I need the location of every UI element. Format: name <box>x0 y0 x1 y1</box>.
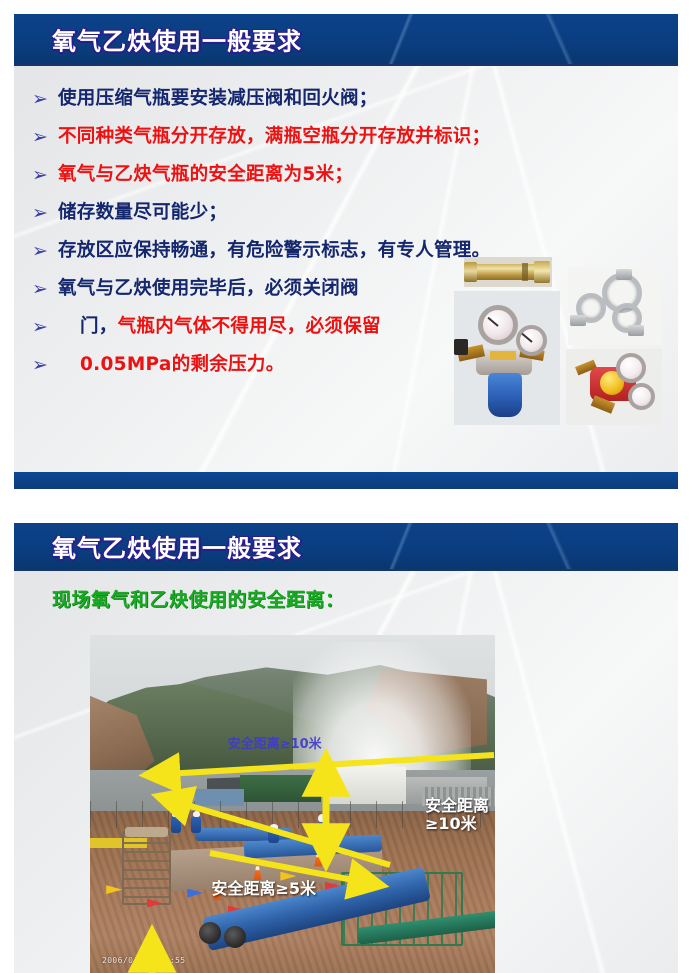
photo-worker <box>191 811 201 837</box>
photo-gas-cylinder-cart <box>122 831 171 905</box>
photo-timestamp: 2006/04/08 04:55 <box>102 956 185 965</box>
chevron-bullet-icon: ➢ <box>32 348 58 382</box>
annotation-10m-line2: ≥10米 <box>425 815 489 833</box>
worker-torso <box>171 816 181 832</box>
bullet-item-1: ➢ 使用压缩气瓶要安装减压阀和回火阀； <box>14 82 678 120</box>
slide2-header-banner: 氧气乙炔使用一般要求 <box>14 523 678 571</box>
cart-frame <box>122 831 171 905</box>
worker-helmet <box>318 814 327 822</box>
regulator-yellow-tag <box>490 351 516 360</box>
worker-helmet <box>193 811 200 817</box>
clamp-screw-tab-3 <box>628 325 644 336</box>
chevron-bullet-icon: ➢ <box>32 234 58 268</box>
red-pressure-gauge-low <box>628 383 655 410</box>
bullet-item-4: ➢ 储存数量尽可能少； <box>14 196 678 234</box>
gauge-needle <box>521 332 532 342</box>
regulator-blue-adjust-knob <box>488 373 522 417</box>
bullet-text-3: 氧气与乙炔气瓶的安全距离为5米； <box>58 158 353 192</box>
bullet-item-3: ➢ 氧气与乙炔气瓶的安全距离为5米； <box>14 158 678 196</box>
slide2-green-heading: 现场氧气和乙炔使用的安全距离： <box>52 585 678 612</box>
bullet-text-8: 0.05MPa的剩余压力。 <box>58 348 285 382</box>
flashback-arrestor-photo <box>464 257 552 287</box>
worker-torso <box>268 829 279 843</box>
cart-top <box>125 827 168 837</box>
slide-oxygen-acetylene-requirements: 氧气乙炔使用一般要求 ➢ 使用压缩气瓶要安装减压阀和回火阀； ➢ 不同种类气瓶分… <box>14 14 678 489</box>
pressure-gauge-high <box>478 305 518 345</box>
bullet-text-5: 存放区应保持畅通，有危险警示标志，有专人管理。 <box>58 234 490 268</box>
bullet-text-1: 使用压缩气瓶要安装减压阀和回火阀； <box>58 82 378 116</box>
gauge-needle <box>487 317 498 327</box>
annotation-5m-label: 安全距离≥5米 <box>212 880 317 898</box>
clamp-screw-tab-2 <box>570 315 586 326</box>
chevron-bullet-icon: ➢ <box>32 196 58 230</box>
bullet-text-7: 门，气瓶内气体不得用尽，必须保留 <box>58 310 381 344</box>
slide-safety-distance-site: 氧气乙炔使用一般要求 现场氧气和乙炔使用的安全距离： <box>14 523 678 973</box>
worker-helmet <box>270 824 278 829</box>
photo-building-green <box>240 775 321 802</box>
chevron-bullet-icon: ➢ <box>32 272 58 306</box>
blue-oxygen-regulator-photo <box>454 291 560 425</box>
annotation-10m-label: 安全距离 ≥10米 <box>425 797 489 833</box>
slide2-title: 氧气乙炔使用一般要求 <box>52 529 302 564</box>
slide1-footer-bar <box>14 472 678 489</box>
bullet-text-2: 不同种类气瓶分开存放，满瓶空瓶分开存放并标识； <box>58 120 490 154</box>
worker-helmet <box>172 811 179 817</box>
arrestor-nut-right <box>534 261 550 283</box>
chevron-bullet-icon: ➢ <box>32 82 58 116</box>
photo-worker <box>171 811 181 837</box>
photo-cart-wheel <box>224 926 246 948</box>
worker-torso <box>191 816 201 832</box>
slide1-title: 氧气乙炔使用一般要求 <box>52 22 302 57</box>
red-acetylene-regulator-photo <box>566 349 662 425</box>
bullet-text-8-value: 0.05MPa的剩余压力。 <box>80 354 285 375</box>
bullet-text-7-red: 气瓶内气体不得用尽，必须保留 <box>118 316 381 337</box>
red-pressure-gauge-high <box>616 353 646 383</box>
bullet-text-4: 储存数量尽可能少； <box>58 196 227 230</box>
annotation-upper-purple: 安全距离≥10米 <box>228 733 322 752</box>
bullet-item-2: ➢ 不同种类气瓶分开存放，满瓶空瓶分开存放并标识； <box>14 120 678 158</box>
clamp-screw-tab-1 <box>616 269 632 280</box>
annotation-10m-line1: 安全距离 <box>425 797 489 815</box>
chevron-bullet-icon: ➢ <box>32 158 58 192</box>
regulator-black-knob <box>454 339 468 355</box>
photo-building-white <box>325 767 406 804</box>
arrestor-nut-left <box>464 262 477 282</box>
construction-site-photo: 安全距离≥10米 安全距离 ≥10米 安全距离≥5米 2006/04/08 04… <box>90 635 495 973</box>
worker-torso <box>317 822 329 843</box>
photo-worker <box>268 824 279 846</box>
bullet-text-7-navy: 门， <box>80 316 118 337</box>
chevron-bullet-icon: ➢ <box>32 120 58 154</box>
equipment-photo-cluster <box>454 257 662 425</box>
arrestor-band <box>522 263 528 281</box>
photo-worker <box>317 814 329 848</box>
hose-clamps-photo <box>568 267 662 345</box>
pressure-gauge-low <box>516 325 547 356</box>
slide1-header-banner: 氧气乙炔使用一般要求 <box>14 14 678 66</box>
chevron-bullet-icon: ➢ <box>32 310 58 344</box>
bullet-text-6: 氧气与乙炔使用完毕后，必须关闭阀 <box>58 272 359 306</box>
